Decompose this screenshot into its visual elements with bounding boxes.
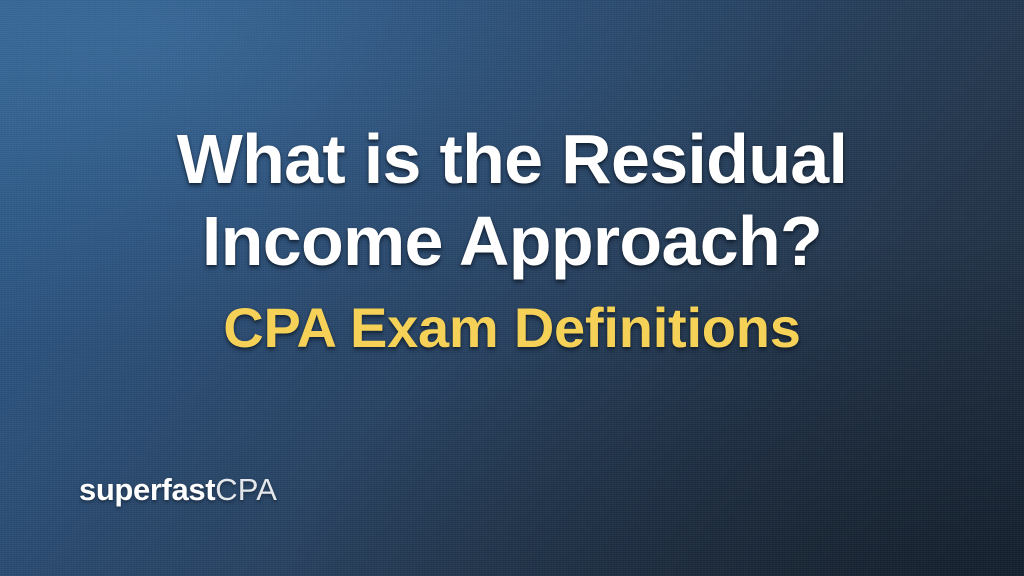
brand-logo-primary: superfast [79, 472, 215, 507]
headline-block: What is the Residual Income Approach? CP… [0, 118, 1024, 359]
brand-logo: superfastCPA [79, 474, 277, 505]
brand-logo-secondary: CPA [215, 472, 277, 507]
headline-line-2: Income Approach? [40, 200, 984, 282]
title-card-slide: What is the Residual Income Approach? CP… [0, 0, 1024, 576]
subtitle: CPA Exam Definitions [40, 297, 984, 360]
headline-line-1: What is the Residual [40, 118, 984, 200]
